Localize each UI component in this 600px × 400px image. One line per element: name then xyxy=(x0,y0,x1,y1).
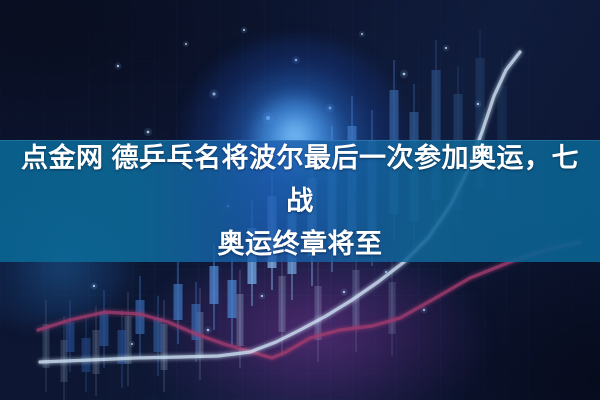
background-candles-lower xyxy=(43,246,396,400)
headline-line-2: 奥运终章将至 xyxy=(218,223,383,266)
headline: 点金网 德乒乓名将波尔最后一次参加奥运，七战 奥运终章将至 xyxy=(0,140,600,262)
news-banner: 点金网 德乒乓名将波尔最后一次参加奥运，七战 奥运终章将至 xyxy=(0,0,600,400)
headline-line-1: 点金网 德乒乓名将波尔最后一次参加奥运，七战 xyxy=(16,137,584,223)
